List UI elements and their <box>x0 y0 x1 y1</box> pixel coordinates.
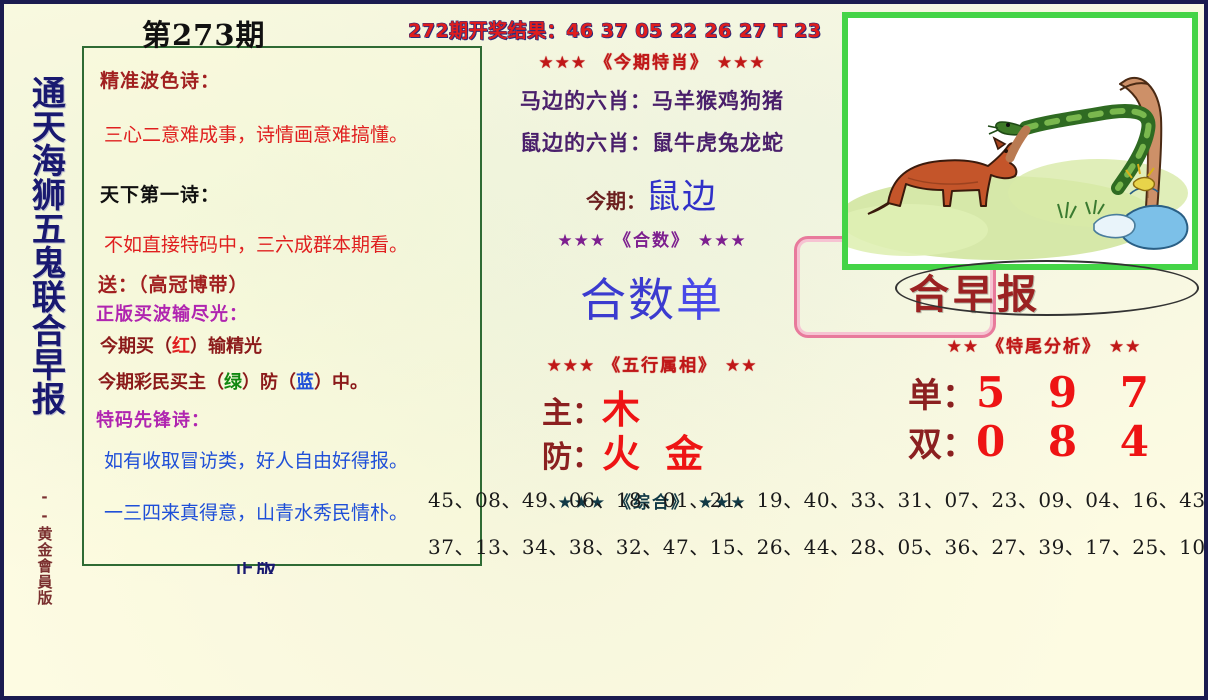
pioneer-line-1: 如有收取冒访类，好人自由好得报。 <box>104 446 408 473</box>
even-tails-label: 双： <box>908 425 976 465</box>
wave-line-2: 今期彩民买主（绿）防（蓝）中。 <box>98 368 368 394</box>
masthead-subtitle: --黄金會員版 <box>35 482 56 612</box>
draw-result-text: 272期开奖结果：46 37 05 22 26 27 T 23 <box>408 16 822 43</box>
wuxing-guard-value: 火 金 <box>602 431 709 476</box>
hesu-header: ★★★ 《合数》 ★★★ <box>492 226 812 251</box>
right-section-title: 合早报 <box>909 262 1208 314</box>
wuxing-header: ★★★ 《五行属相》 ★★ <box>492 351 812 376</box>
wuxing-main-value: 木 <box>602 387 646 432</box>
gift-label: 送：（高冠博带） <box>98 270 249 297</box>
masthead: 通天海狮五鬼联合早报 --黄金會員版 <box>14 10 76 620</box>
wave-line-2-color-blue: 蓝 <box>296 372 314 393</box>
newspaper-page: 通天海狮五鬼联合早报 --黄金會員版 第273期 272期开奖结果：46 37 … <box>0 0 1208 700</box>
wuxing-main-row: 主：木 <box>492 390 812 430</box>
wave-line-2-a: 今期彩民买主（ <box>98 372 224 393</box>
even-tails-values: 0 8 4 <box>976 417 1163 466</box>
odd-tails-label: 单： <box>908 376 976 416</box>
poem-box: 精准波色诗： 三心二意难成事，诗情画意难搞懂。 天下第一诗： 不如直接特码中，三… <box>82 46 482 566</box>
masthead-title: 通天海狮五鬼联合早报 <box>27 10 64 480</box>
poem-heading-1: 精准波色诗： <box>100 66 220 93</box>
poem-line-2: 不如直接特码中，三六成群本期看。 <box>104 230 408 257</box>
right-title-text: 合早报 <box>909 272 1041 318</box>
number-row-1: 45、08、49、06、18、01、21、19、40、33、31、07、23、0… <box>428 484 1188 513</box>
hesu-label: 合数 <box>580 273 676 327</box>
star-group-left: ★★★ <box>546 356 595 376</box>
tail-analysis-title: 《特尾分析》 <box>987 337 1101 357</box>
pioneer-heading: 特码先锋诗： <box>96 406 210 432</box>
current-zodiac-row: 今期：鼠边 <box>492 169 812 218</box>
dog-and-snake-illustration <box>848 18 1192 264</box>
illustration-frame <box>842 12 1198 270</box>
hesu-value: 单 <box>676 273 724 327</box>
hesu-title: 《合数》 <box>614 231 690 251</box>
poem-heading-2: 天下第一诗： <box>100 180 220 207</box>
star-group-right: ★★★ <box>717 53 766 73</box>
clipped-bottom-text: 正版 <box>234 562 278 574</box>
tail-analysis-header: ★★ 《特尾分析》 ★★ <box>884 332 1204 357</box>
middle-column: ★★★ 《今期特肖》 ★★★ 马边的六肖：马羊猴鸡狗猪 鼠边的六肖：鼠牛虎兔龙蛇… <box>492 48 812 513</box>
odd-tails-values: 5 9 7 <box>976 368 1163 417</box>
hesu-value-row: 合数单 <box>492 277 812 323</box>
number-list: 45、08、49、06、18、01、21、19、40、33、31、07、23、0… <box>428 484 1188 578</box>
star-group-right: ★★★ <box>698 231 747 251</box>
pioneer-line-2: 一三四来真得意，山青水秀民情朴。 <box>104 498 408 525</box>
wave-line-1-a: 今期买（ <box>100 336 172 357</box>
special-zodiac-header: ★★★ 《今期特肖》 ★★★ <box>492 48 812 73</box>
wave-line-1-color-red: 红 <box>172 336 190 357</box>
wuxing-main-label: 主： <box>542 396 602 431</box>
star-group-left: ★★★ <box>557 231 606 251</box>
odd-tails-row: 单：5 9 7 <box>884 369 1204 416</box>
star-group-right: ★★ <box>1109 337 1141 357</box>
special-zodiac-title: 《今期特肖》 <box>595 53 709 73</box>
rat-side-row: 鼠边的六肖：鼠牛虎兔龙蛇 <box>492 127 812 157</box>
current-zodiac-value: 鼠边 <box>646 177 718 217</box>
star-group-left: ★★ <box>947 337 979 357</box>
tail-analysis-block: ★★ 《特尾分析》 ★★ 单：5 9 7 双：0 8 4 <box>884 332 1204 465</box>
wave-line-2-b: ）防（ <box>242 372 296 393</box>
wave-heading: 正版买波输尽光： <box>96 300 248 326</box>
wuxing-guard-row: 防：火 金 <box>492 434 812 474</box>
star-group-right: ★★ <box>725 356 757 376</box>
even-tails-row: 双：0 8 4 <box>884 418 1204 465</box>
wuxing-guard-label: 防： <box>542 440 602 475</box>
issue-title: 第273期 <box>142 12 266 54</box>
wave-line-1: 今期买（红）输精光 <box>100 332 262 358</box>
wave-line-1-b: ）输精光 <box>190 336 262 357</box>
number-row-2: 37、13、34、38、32、47、15、26、44、28、05、36、27、3… <box>428 531 1188 560</box>
star-group-left: ★★★ <box>538 53 587 73</box>
poem-line-1: 三心二意难成事，诗情画意难搞懂。 <box>104 120 408 147</box>
wave-line-2-c: ）中。 <box>314 372 368 393</box>
wave-line-2-color-green: 绿 <box>224 372 242 393</box>
current-zodiac-label: 今期： <box>586 189 646 213</box>
wuxing-title: 《五行属相》 <box>603 356 717 376</box>
horse-side-row: 马边的六肖：马羊猴鸡狗猪 <box>492 85 812 115</box>
